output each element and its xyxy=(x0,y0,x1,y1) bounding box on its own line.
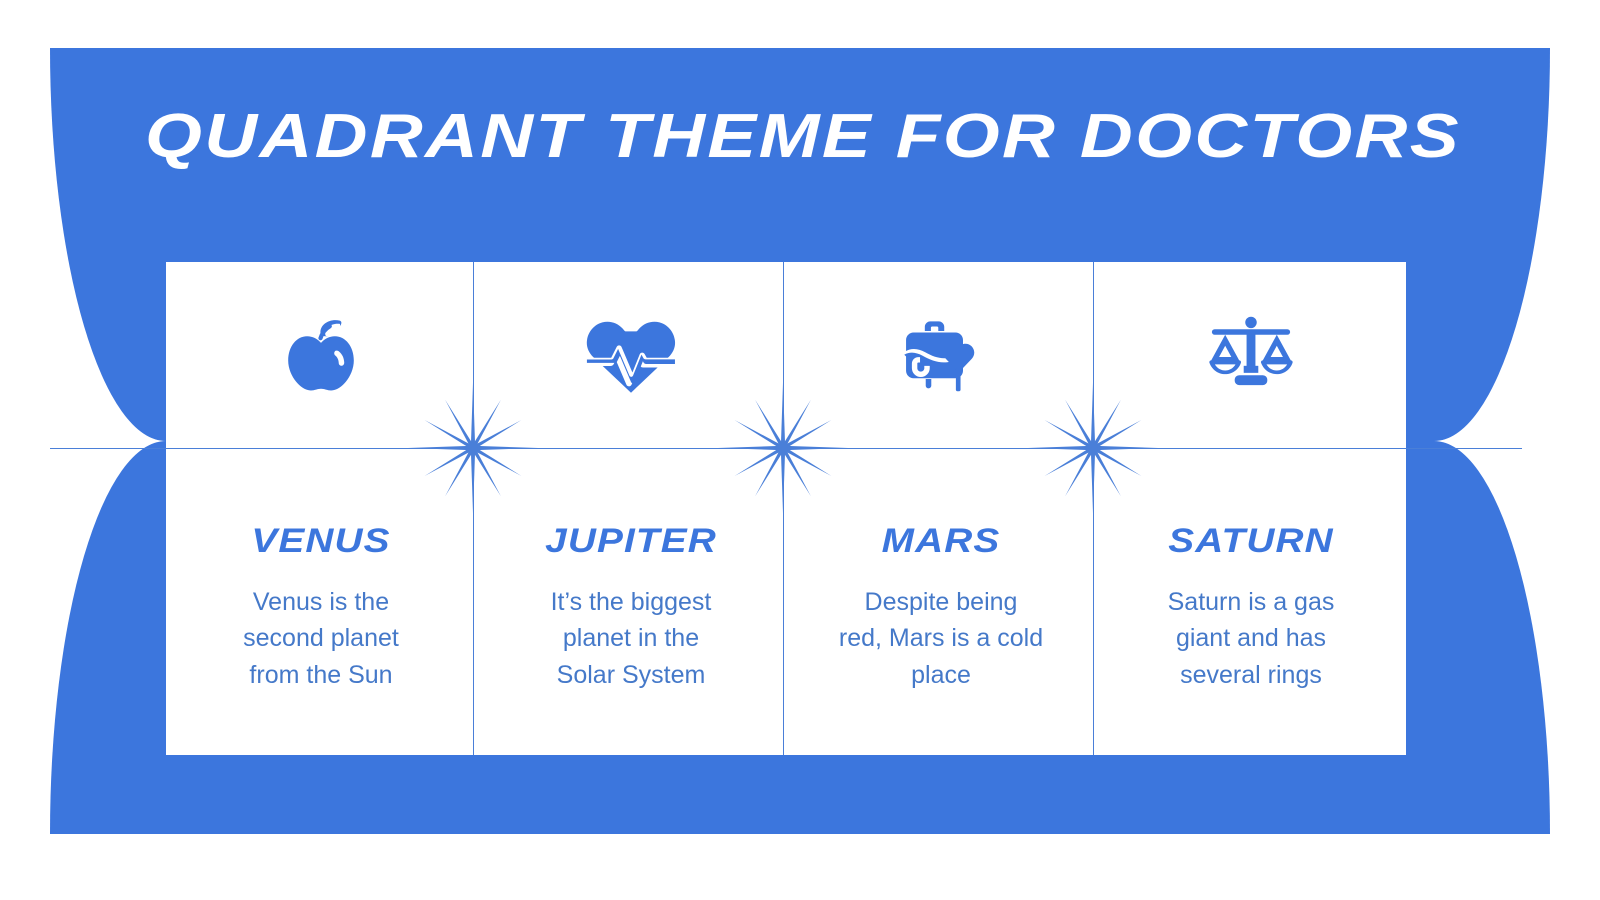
balance-scale-icon xyxy=(1096,262,1406,448)
planet-description: It’s the biggest planet in the Solar Sys… xyxy=(486,584,776,693)
planet-name: SATURN xyxy=(1086,524,1417,558)
planet-name: VENUS xyxy=(156,524,487,558)
quadrant-column-saturn: SATURN Saturn is a gas giant and has sev… xyxy=(1096,262,1406,755)
planet-description: Despite being red, Mars is a cold place xyxy=(796,584,1086,693)
medical-bag-heart-icon xyxy=(786,262,1096,448)
heart-pulse-icon xyxy=(476,262,786,448)
planet-description: Venus is the second planet from the Sun xyxy=(176,584,466,693)
quadrant-text-venus: VENUS Venus is the second planet from th… xyxy=(166,448,476,755)
planet-name: MARS xyxy=(776,524,1107,558)
notch-bottom-right xyxy=(1434,441,1550,834)
quadrant-text-jupiter: JUPITER It’s the biggest planet in the S… xyxy=(476,448,786,755)
planet-name: JUPITER xyxy=(466,524,797,558)
quadrant-column-venus: VENUS Venus is the second planet from th… xyxy=(166,262,476,755)
quadrant-column-jupiter: JUPITER It’s the biggest planet in the S… xyxy=(476,262,786,755)
quadrant-text-mars: MARS Despite being red, Mars is a cold p… xyxy=(786,448,1096,755)
slide-canvas: QUADRANT THEME FOR DOCTORS xyxy=(0,0,1600,900)
planet-description: Saturn is a gas giant and has several ri… xyxy=(1106,584,1396,693)
apple-icon xyxy=(166,262,476,448)
page-title: QUADRANT THEME FOR DOCTORS xyxy=(145,104,1600,169)
quadrant-column-mars: MARS Despite being red, Mars is a cold p… xyxy=(786,262,1096,755)
notch-bottom-left xyxy=(50,441,166,834)
quadrant-text-saturn: SATURN Saturn is a gas giant and has sev… xyxy=(1096,448,1406,755)
quadrant-card: VENUS Venus is the second planet from th… xyxy=(166,262,1406,755)
